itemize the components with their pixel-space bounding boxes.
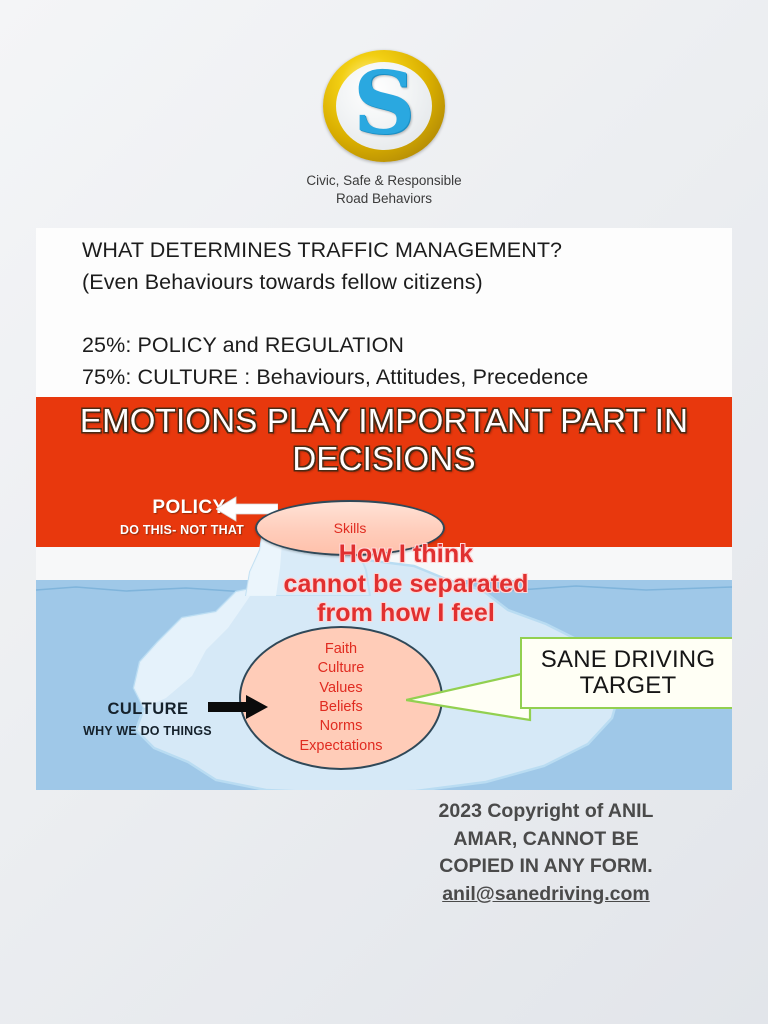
think-feel-line-1: How I think xyxy=(236,540,576,570)
brand-tagline: Civic, Safe & Responsible Road Behaviors xyxy=(0,172,768,208)
culture-item-norms: Norms xyxy=(320,717,363,736)
copyright-line-1: 2023 Copyright of ANIL xyxy=(396,798,696,826)
iceberg-poster: WHAT DETERMINES TRAFFIC MANAGEMENT? (Eve… xyxy=(36,228,732,790)
banner-title-line-2: DECISIONS xyxy=(36,440,732,478)
banner-title-line-1: EMOTIONS PLAY IMPORTANT PART IN xyxy=(36,402,732,440)
logo-mark: S xyxy=(323,50,445,162)
intro-line-policy-percent: 25%: POLICY and REGULATION xyxy=(82,333,404,358)
copyright-block: 2023 Copyright of ANIL AMAR, CANNOT BE C… xyxy=(396,798,696,909)
intro-line-culture-percent: 75%: CULTURE : Behaviours, Attitudes, Pr… xyxy=(82,365,588,390)
copyright-line-2: AMAR, CANNOT BE xyxy=(396,826,696,854)
culture-item-culture: Culture xyxy=(318,659,365,678)
intro-line-question: WHAT DETERMINES TRAFFIC MANAGEMENT? xyxy=(82,238,562,263)
brand-tagline-line-2: Road Behaviors xyxy=(0,190,768,208)
think-feel-text: How I think cannot be separated from how… xyxy=(236,540,576,629)
logo-letter-s: S xyxy=(336,62,432,148)
think-feel-line-3: from how I feel xyxy=(236,599,576,629)
intro-text-block: WHAT DETERMINES TRAFFIC MANAGEMENT? (Eve… xyxy=(36,228,732,397)
intro-line-subquestion: (Even Behaviours towards fellow citizens… xyxy=(82,270,483,295)
skills-label: Skills xyxy=(334,520,367,536)
callout-line-1: SANE DRIVING xyxy=(541,647,715,673)
culture-item-beliefs: Beliefs xyxy=(319,698,363,717)
callout-line-2: TARGET xyxy=(580,673,677,699)
logo-inner-disc: S xyxy=(336,62,432,150)
culture-item-faith: Faith xyxy=(325,640,357,659)
banner-title: EMOTIONS PLAY IMPORTANT PART IN DECISION… xyxy=(36,402,732,479)
copyright-line-3: COPIED IN ANY FORM. xyxy=(396,853,696,881)
culture-sublabel: WHY WE DO THINGS xyxy=(60,724,235,738)
brand-logo-block: S Civic, Safe & Responsible Road Behavio… xyxy=(0,50,768,208)
contact-email-link[interactable]: anil@sanedriving.com xyxy=(396,881,696,909)
culture-label: CULTURE xyxy=(78,700,218,719)
brand-tagline-line-1: Civic, Safe & Responsible xyxy=(0,172,768,190)
arrow-right-icon xyxy=(208,694,268,720)
culture-item-expectations: Expectations xyxy=(299,737,382,756)
culture-item-values: Values xyxy=(319,679,362,698)
sane-driving-target-callout: SANE DRIVING TARGET xyxy=(520,637,732,709)
think-feel-line-2: cannot be separated xyxy=(236,570,576,600)
